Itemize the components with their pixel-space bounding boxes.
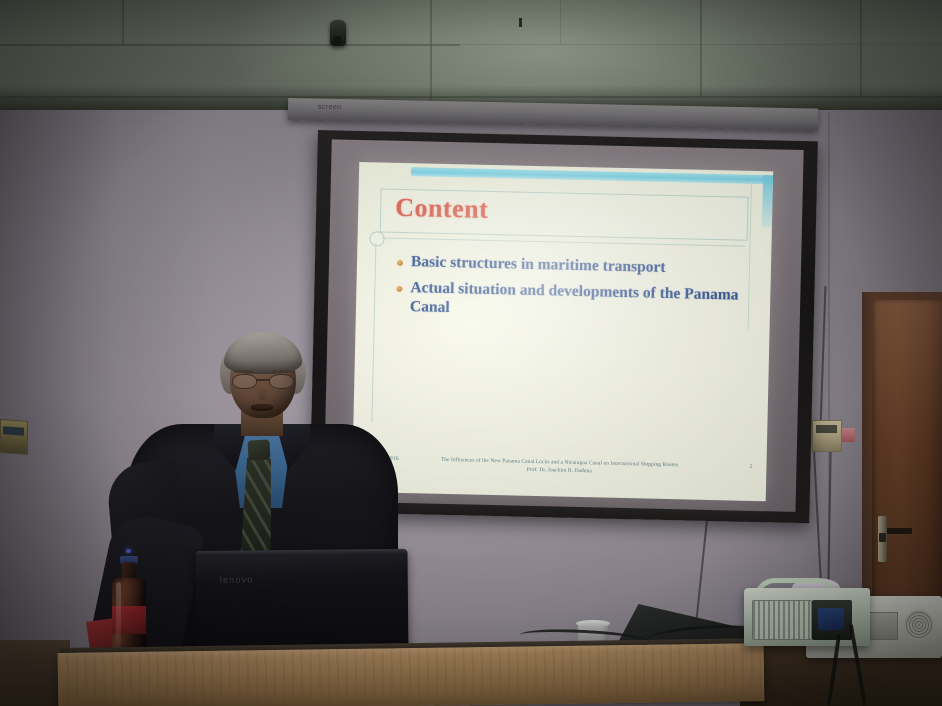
bullet-text: Actual situation and developments of the… <box>410 279 747 323</box>
slide-footer-title: The Influences of the New Panama Canal L… <box>352 454 766 480</box>
slide-accent-edge <box>762 175 773 227</box>
slide-title: Content <box>395 193 489 225</box>
wall-label-red <box>842 428 855 442</box>
laptop[interactable]: lenovo <box>195 549 408 655</box>
laptop-lid-edge <box>195 549 407 556</box>
wall-control-box[interactable] <box>812 420 842 452</box>
presenter-mouth <box>251 404 273 411</box>
door-handle[interactable] <box>878 516 887 562</box>
projector-vent-grille <box>752 600 812 640</box>
list-item: Basic structures in maritime transport <box>397 253 747 279</box>
drinking-glass-rim <box>576 620 610 627</box>
presenter-brow-left <box>234 370 254 373</box>
slide-accent-band <box>411 167 773 184</box>
presenter-brow-right <box>272 370 292 373</box>
laptop-power-led <box>126 549 131 553</box>
list-item: Actual situation and developments of the… <box>396 279 747 323</box>
screen-brand-label: screen <box>318 104 342 111</box>
door-latch <box>886 528 912 534</box>
slide-bullet-list: Basic structures in maritime transport A… <box>396 253 748 332</box>
bullet-dot-icon <box>396 286 402 292</box>
podium-desk <box>58 643 765 706</box>
laptop-brand-logo: lenovo <box>220 575 254 585</box>
presenter-tie-knot <box>247 439 270 460</box>
wall-plate <box>0 419 28 455</box>
slide-page-number: 2 <box>750 464 753 470</box>
presentation-slide: Content Basic structures in maritime tra… <box>352 162 773 501</box>
bullet-text: Basic structures in maritime transport <box>411 253 666 277</box>
slide-title-box: Content <box>380 188 749 240</box>
smoke-detector-icon <box>330 20 346 46</box>
projector-connector-blue[interactable] <box>818 608 844 630</box>
lecture-room-scene: screen Content Basic structures in marit… <box>0 0 942 706</box>
bullet-dot-icon <box>397 260 403 266</box>
slide-footer: 28 mai 2016 The Influences of the New Pa… <box>352 454 766 485</box>
presenter-hair <box>224 332 302 374</box>
bottle-highlight <box>116 582 121 652</box>
presenter-nose <box>258 384 267 400</box>
slide-decor-circle-icon <box>369 231 384 246</box>
projector-rear-vent <box>904 610 934 640</box>
ceiling-fixture-speck <box>519 18 522 27</box>
